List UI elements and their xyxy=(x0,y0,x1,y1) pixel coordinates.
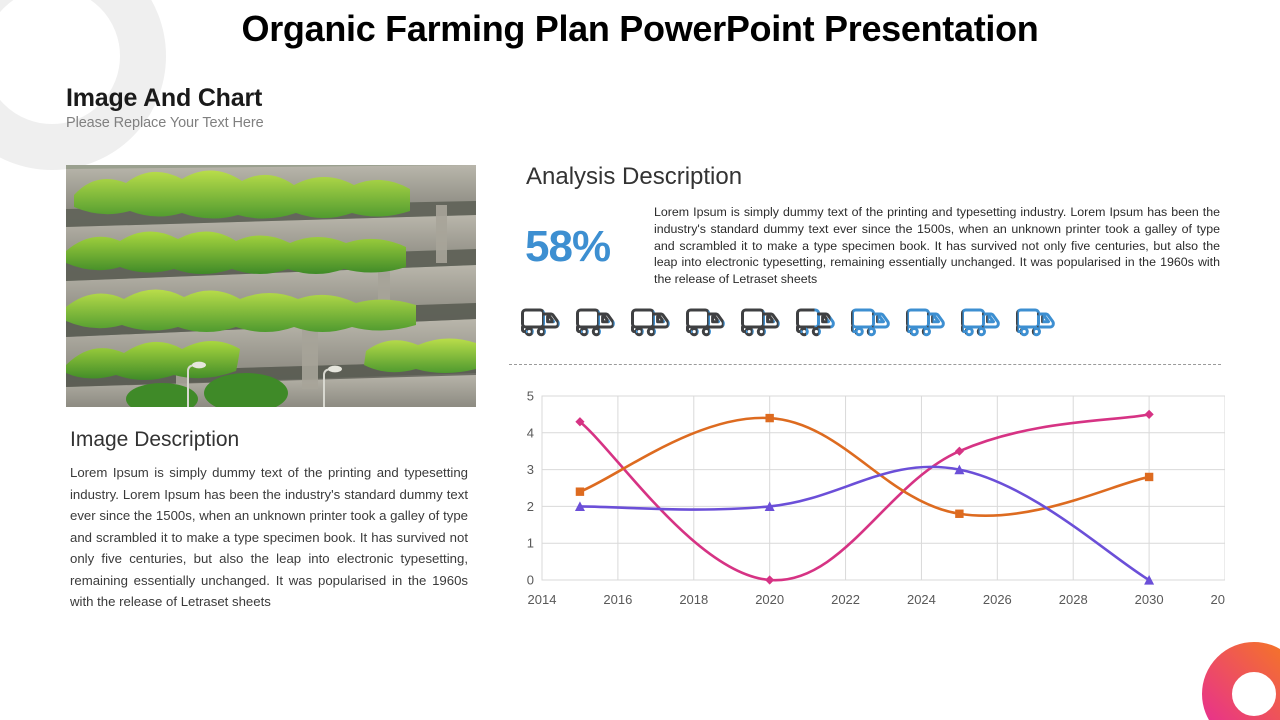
delivery-truck-icon xyxy=(683,299,729,345)
svg-text:2026: 2026 xyxy=(983,592,1012,607)
svg-text:2: 2 xyxy=(527,499,534,514)
svg-text:0: 0 xyxy=(527,573,534,588)
delivery-truck-icon xyxy=(738,299,784,345)
delivery-truck-icon xyxy=(793,299,839,345)
percentage-value: 58% xyxy=(525,222,610,272)
svg-text:4: 4 xyxy=(527,425,534,440)
analysis-description-title: Analysis Description xyxy=(526,163,742,191)
delivery-truck-icon xyxy=(1013,299,1059,345)
building-photo xyxy=(66,165,476,407)
svg-text:2024: 2024 xyxy=(907,592,936,607)
delivery-truck-icon xyxy=(903,299,949,345)
delivery-truck-icon xyxy=(518,299,564,345)
slide: Organic Farming Plan PowerPoint Presenta… xyxy=(0,0,1280,720)
svg-text:2016: 2016 xyxy=(603,592,632,607)
delivery-truck-icon xyxy=(628,299,674,345)
section-divider xyxy=(509,364,1221,365)
delivery-truck-icon xyxy=(958,299,1004,345)
image-description-title: Image Description xyxy=(70,428,239,452)
svg-text:2032: 2032 xyxy=(1211,592,1225,607)
image-description-body: Lorem Ipsum is simply dummy text of the … xyxy=(70,462,468,613)
delivery-truck-icon xyxy=(573,299,619,345)
svg-text:2030: 2030 xyxy=(1135,592,1164,607)
page-number-badge xyxy=(1202,642,1280,720)
svg-text:2014: 2014 xyxy=(528,592,557,607)
svg-text:1: 1 xyxy=(527,536,534,551)
svg-text:2022: 2022 xyxy=(831,592,860,607)
delivery-truck-icon-row xyxy=(518,299,1018,345)
section-title: Image And Chart xyxy=(66,84,262,113)
section-subtitle: Please Replace Your Text Here xyxy=(66,115,264,131)
svg-text:2028: 2028 xyxy=(1059,592,1088,607)
page-title: Organic Farming Plan PowerPoint Presenta… xyxy=(0,8,1280,50)
line-chart: 0123452014201620182020202220242026202820… xyxy=(509,388,1225,618)
svg-text:2018: 2018 xyxy=(679,592,708,607)
svg-text:2020: 2020 xyxy=(755,592,784,607)
page-number-label: 1 xyxy=(1234,686,1242,702)
analysis-description-body: Lorem Ipsum is simply dummy text of the … xyxy=(654,204,1220,288)
svg-text:3: 3 xyxy=(527,462,534,477)
delivery-truck-icon xyxy=(848,299,894,345)
svg-text:5: 5 xyxy=(527,389,534,404)
